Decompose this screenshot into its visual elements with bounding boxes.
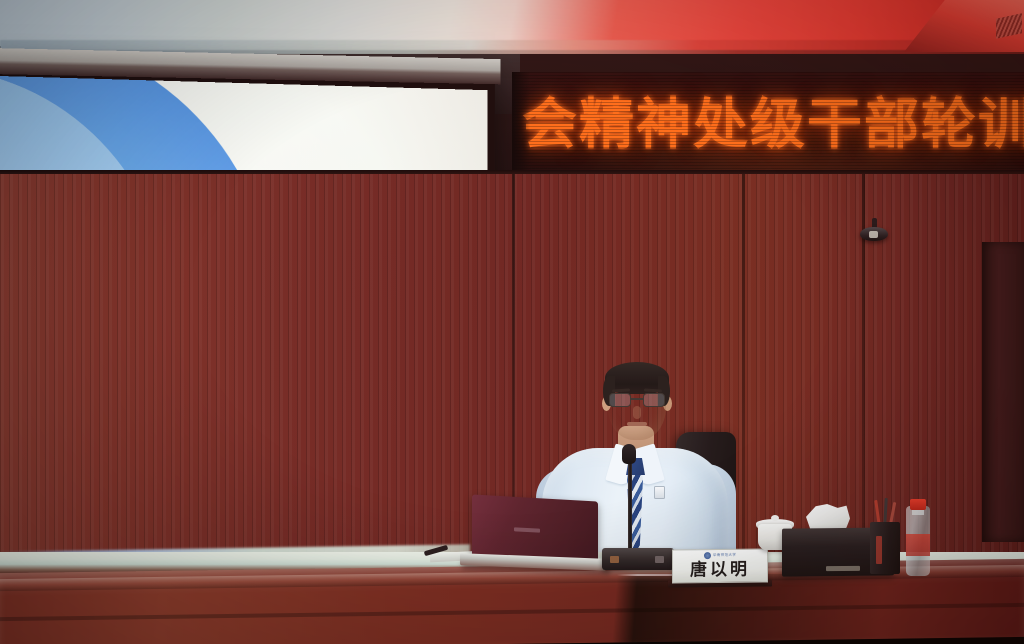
desk-nameplate: 华南师范大学 唐以明	[672, 548, 768, 583]
microphone-button	[610, 556, 619, 563]
led-banner: 会精神处级干部轮训班	[512, 72, 1024, 174]
camera-lens	[869, 231, 878, 238]
led-banner-text: 会精神处级干部轮训班	[522, 78, 1024, 170]
eyeglass-lens-right	[643, 393, 665, 407]
tissue-box-logo	[826, 566, 860, 571]
presenter-mouth	[627, 422, 647, 426]
microphone-gooseneck	[628, 452, 632, 550]
recessed-doorway	[982, 242, 1024, 542]
eyeglass-lens-left	[609, 393, 631, 407]
university-seal-icon	[704, 552, 711, 559]
nameplate-name: 唐以明	[690, 559, 750, 582]
pen-holder-label	[876, 536, 882, 564]
nameplate-organization: 华南师范大学	[713, 552, 736, 557]
security-camera-icon	[860, 218, 888, 244]
microphone-button	[655, 556, 664, 563]
lecture-hall-photo: 学校法律风险 防范讲座 主讲人：唐以明 会精神处级干部轮训班	[0, 0, 1024, 644]
pen-holder	[870, 522, 900, 574]
water-bottle-cap	[910, 499, 926, 510]
wall-panel-seam	[742, 174, 745, 574]
microphone-capsule	[622, 444, 636, 464]
eyeglass-bridge	[631, 398, 643, 400]
teacup-knob	[771, 515, 779, 521]
led-left-edge-shadow	[512, 72, 530, 174]
presenter-nose	[633, 406, 641, 419]
shirt-badge	[654, 486, 665, 499]
water-bottle-label	[906, 534, 930, 556]
